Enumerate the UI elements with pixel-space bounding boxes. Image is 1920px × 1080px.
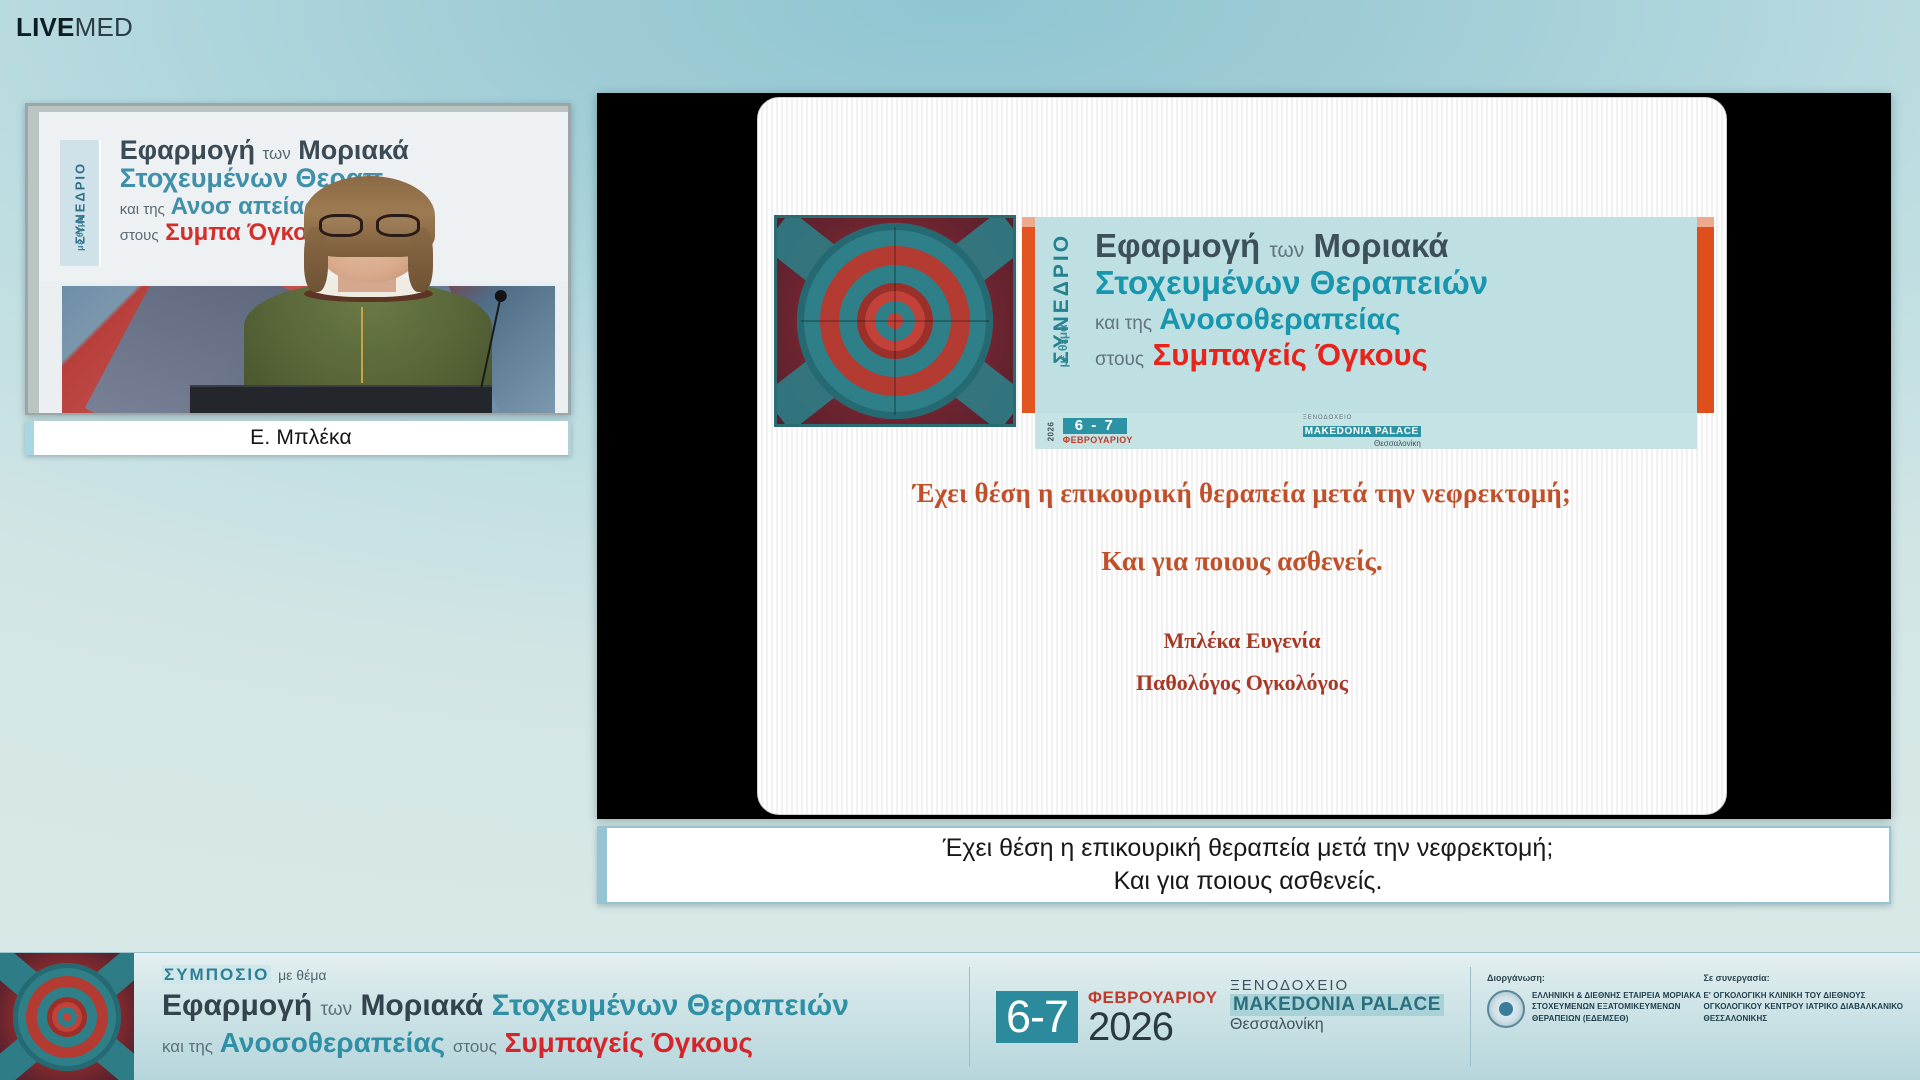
caption-line-1: Έχει θέση η επικουρική θεραπεία μετά την… — [943, 832, 1554, 865]
backdrop-line1-small: των — [262, 144, 290, 163]
backdrop-line-1: Εφαρμογή των Μοριακά — [120, 137, 568, 165]
brand-part-med: MED — [75, 14, 133, 40]
footer-kicker-sub: με θέμα — [278, 967, 326, 983]
strip-venue-top: ΞΕΝΟΔΟΧΕΙΟ — [1303, 415, 1421, 421]
banner-line1-bold2: Μοριακά — [1313, 227, 1448, 264]
slide-question-line-1: Έχει θέση η επικουρική θεραπεία μετά την… — [758, 478, 1726, 509]
event-footer-banner: ΣΥΜΠΟΣΙΟ με θέμα Εφαρμογή των Μοριακά Στ… — [0, 952, 1920, 1080]
footer-cooperation-column: Σε συνεργασία: Ε' ΟΓΚΟΛΟΓΙΚΗ ΚΛΙΝΙΚΗ ΤΟΥ… — [1704, 973, 1920, 1080]
footer-title-line-1: Εφαρμογή των Μοριακά Στοχευμένων Θεραπει… — [162, 989, 969, 1023]
footer-organizer-column: Διοργάνωση: ΕΛΛΗΝΙΚΗ & ΔΙΕΘΝΗΣ ΕΤΑΙΡΕΙΑ … — [1487, 973, 1704, 1080]
organizer-seal-icon — [1487, 990, 1525, 1028]
presentation-slide[interactable]: ΣΥΝΕΔΡΙΟ με θέμα Εφαρμογή των Μοριακά Στ… — [757, 97, 1727, 815]
congress-emblem-icon — [774, 215, 1016, 427]
footer-kicker-main: ΣΥΜΠΟΣΙΟ — [162, 965, 271, 984]
footer-t2-c: στους — [453, 1037, 497, 1056]
banner-vertical-sub: με θέμα — [1056, 310, 1070, 382]
footer-organizer-text: ΕΛΛΗΝΙΚΗ & ΔΙΕΘΝΗΣ ΕΤΑΙΡΕΙΑ ΜΟΡΙΑΚΑ ΣΤΟΧ… — [1532, 990, 1704, 1024]
podium — [190, 385, 492, 413]
backdrop-line1-bold: Εφαρμογή — [120, 135, 255, 165]
footer-t1-a: Εφαρμογή — [162, 989, 312, 1022]
banner-line-1: Εφαρμογή των Μοριακά — [1095, 229, 1689, 264]
speaker-video-panel[interactable]: ΣΥΝΕΔΡΙΟ με θέμα Εφαρμογή των Μοριακά Στ… — [25, 103, 571, 415]
footer-title-block: ΣΥΜΠΟΣΙΟ με θέμα Εφαρμογή των Μοριακά Στ… — [134, 953, 969, 1080]
speaker-figure — [244, 161, 492, 413]
glasses-icon — [319, 214, 421, 237]
speaker-name-label: Ε. Μπλέκα — [250, 426, 352, 450]
brand-part-live: LIVE — [16, 14, 75, 40]
banner-line1-small: των — [1269, 239, 1304, 262]
footer-t1-b: των — [321, 999, 353, 1020]
footer-date-monthyear: ΦΕΒΡΟΥΑΡΙΟΥ 2026 — [1088, 988, 1217, 1046]
footer-date-block: 6-7 ΦΕΒΡΟΥΑΡΙΟΥ 2026 — [970, 953, 1230, 1080]
backdrop-line3-bold: Ανοσ — [171, 193, 232, 220]
backdrop-line4-small: στους — [120, 227, 159, 244]
footer-venue-name: MAKEDONIA PALACE — [1230, 994, 1444, 1016]
slide-title-banner: ΣΥΝΕΔΡΙΟ με θέμα Εφαρμογή των Μοριακά Στ… — [1035, 217, 1697, 413]
slide-date-venue-strip: 2026 6 - 7 ΦΕΒΡΟΥΑΡΙΟΥ ΞΕΝΟΔΟΧΕΙΟ MAKEDO… — [1035, 413, 1697, 449]
footer-venue-top: ΞΕΝΟΔΟΧΕΙΟ — [1230, 977, 1470, 994]
backdrop-vertical-label: ΣΥΝΕΔΡΙΟ με θέμα — [60, 140, 101, 266]
strip-venue-city: Θεσσαλονίκη — [1303, 439, 1421, 448]
banner-line-4: στους Συμπαγείς Όγκους — [1095, 339, 1689, 372]
footer-t2-d: Συμπαγείς Όγκους — [505, 1027, 753, 1058]
footer-venue-block: ΞΕΝΟΔΟΧΕΙΟ MAKEDONIA PALACE Θεσσαλονίκη — [1230, 953, 1470, 1080]
footer-t1-d: Στοχευμένων Θεραπειών — [492, 989, 849, 1022]
slide-question: Έχει θέση η επικουρική θεραπεία μετά την… — [758, 478, 1726, 577]
banner-line3-bold: Ανοσοθεραπείας — [1159, 303, 1400, 336]
backdrop-vertical-sub: με θέμα — [75, 215, 85, 251]
backdrop-line4-bold: Συμπα — [165, 219, 241, 246]
speaker-video-feed[interactable]: ΣΥΝΕΔΡΙΟ με θέμα Εφαρμογή των Μοριακά Στ… — [28, 106, 568, 413]
banner-text-block: Εφαρμογή των Μοριακά Στοχευμένων Θεραπει… — [1095, 229, 1689, 372]
strip-venue: ΞΕΝΟΔΟΧΕΙΟ MAKEDONIA PALACE Θεσσαλονίκη — [1303, 415, 1421, 448]
banner-line1-bold: Εφαρμογή — [1095, 227, 1260, 264]
slide-author-role: Παθολόγος Ογκολόγος — [758, 670, 1726, 696]
speaker-name-bar: Ε. Μπλέκα — [25, 421, 571, 455]
footer-organizer-label: Διοργάνωση: — [1487, 973, 1704, 983]
footer-t2-b: Ανοσοθεραπείας — [220, 1027, 445, 1058]
footer-venue-city: Θεσσαλονίκη — [1230, 1016, 1470, 1034]
banner-line4-bold: Συμπαγείς Όγκους — [1153, 337, 1428, 372]
banner-vertical-label: ΣΥΝΕΔΡΙΟ με θέμα — [1041, 227, 1083, 403]
footer-date-year: 2026 — [1088, 1008, 1217, 1046]
banner-line3-small: και της — [1095, 313, 1152, 334]
strip-month: ΦΕΒΡΟΥΑΡΙΟΥ — [1063, 435, 1133, 445]
banner-line-2: Στοχευμένων Θεραπειών — [1095, 266, 1689, 301]
banner-line4-small: στους — [1095, 349, 1144, 370]
footer-kicker: ΣΥΜΠΟΣΙΟ με θέμα — [162, 965, 326, 985]
strip-year: 2026 — [1046, 421, 1055, 441]
banner-accent-right — [1697, 227, 1714, 413]
strip-days: 6 - 7 — [1063, 418, 1127, 434]
caption-line-2: Και για ποιους ασθενείς. — [1114, 865, 1383, 898]
footer-cooperation-label: Σε συνεργασία: — [1704, 973, 1920, 983]
slide-header-graphic: ΣΥΝΕΔΡΙΟ με θέμα Εφαρμογή των Μοριακά Στ… — [774, 215, 1714, 427]
footer-date-days: 6-7 — [996, 991, 1078, 1043]
footer-cooperation-text: Ε' ΟΓΚΟΛΟΓΙΚΗ ΚΛΙΝΙΚΗ ΤΟΥ ΔΙΕΘΝΟΥΣ ΟΓΚΟΛ… — [1704, 990, 1920, 1024]
speaker-necklace — [361, 307, 363, 383]
banner-line-3: και της Ανοσοθεραπείας — [1095, 304, 1689, 336]
presentation-title-bar: Έχει θέση η επικουρική θεραπεία μετά την… — [597, 826, 1891, 904]
backdrop-line1-bold2: Μοριακά — [298, 135, 409, 165]
strip-date: 6 - 7 ΦΕΒΡΟΥΑΡΙΟΥ — [1063, 417, 1133, 445]
event-emblem-icon — [0, 953, 134, 1080]
footer-t1-c: Μοριακά — [360, 989, 483, 1022]
slide-question-line-2: Και για ποιους ασθενείς. — [758, 546, 1726, 577]
slide-stage[interactable]: ΣΥΝΕΔΡΙΟ με θέμα Εφαρμογή των Μοριακά Στ… — [597, 93, 1891, 819]
slide-author-block: Μπλέκα Ευγενία Παθολόγος Ογκολόγος — [758, 628, 1726, 696]
footer-organizers-block: Διοργάνωση: ΕΛΛΗΝΙΚΗ & ΔΙΕΘΝΗΣ ΕΤΑΙΡΕΙΑ … — [1471, 953, 1920, 1080]
strip-venue-name: MAKEDONIA PALACE — [1303, 426, 1421, 437]
backdrop-line3-small: και της — [120, 201, 165, 218]
livemed-logo: LIVEMED — [16, 14, 133, 40]
slide-author-name: Μπλέκα Ευγενία — [758, 628, 1726, 654]
footer-title-line-2: και της Ανοσοθεραπείας στους Συμπαγείς Ό… — [162, 1027, 969, 1059]
footer-t2-a: και της — [162, 1037, 213, 1056]
banner-accent-left — [1022, 227, 1035, 413]
